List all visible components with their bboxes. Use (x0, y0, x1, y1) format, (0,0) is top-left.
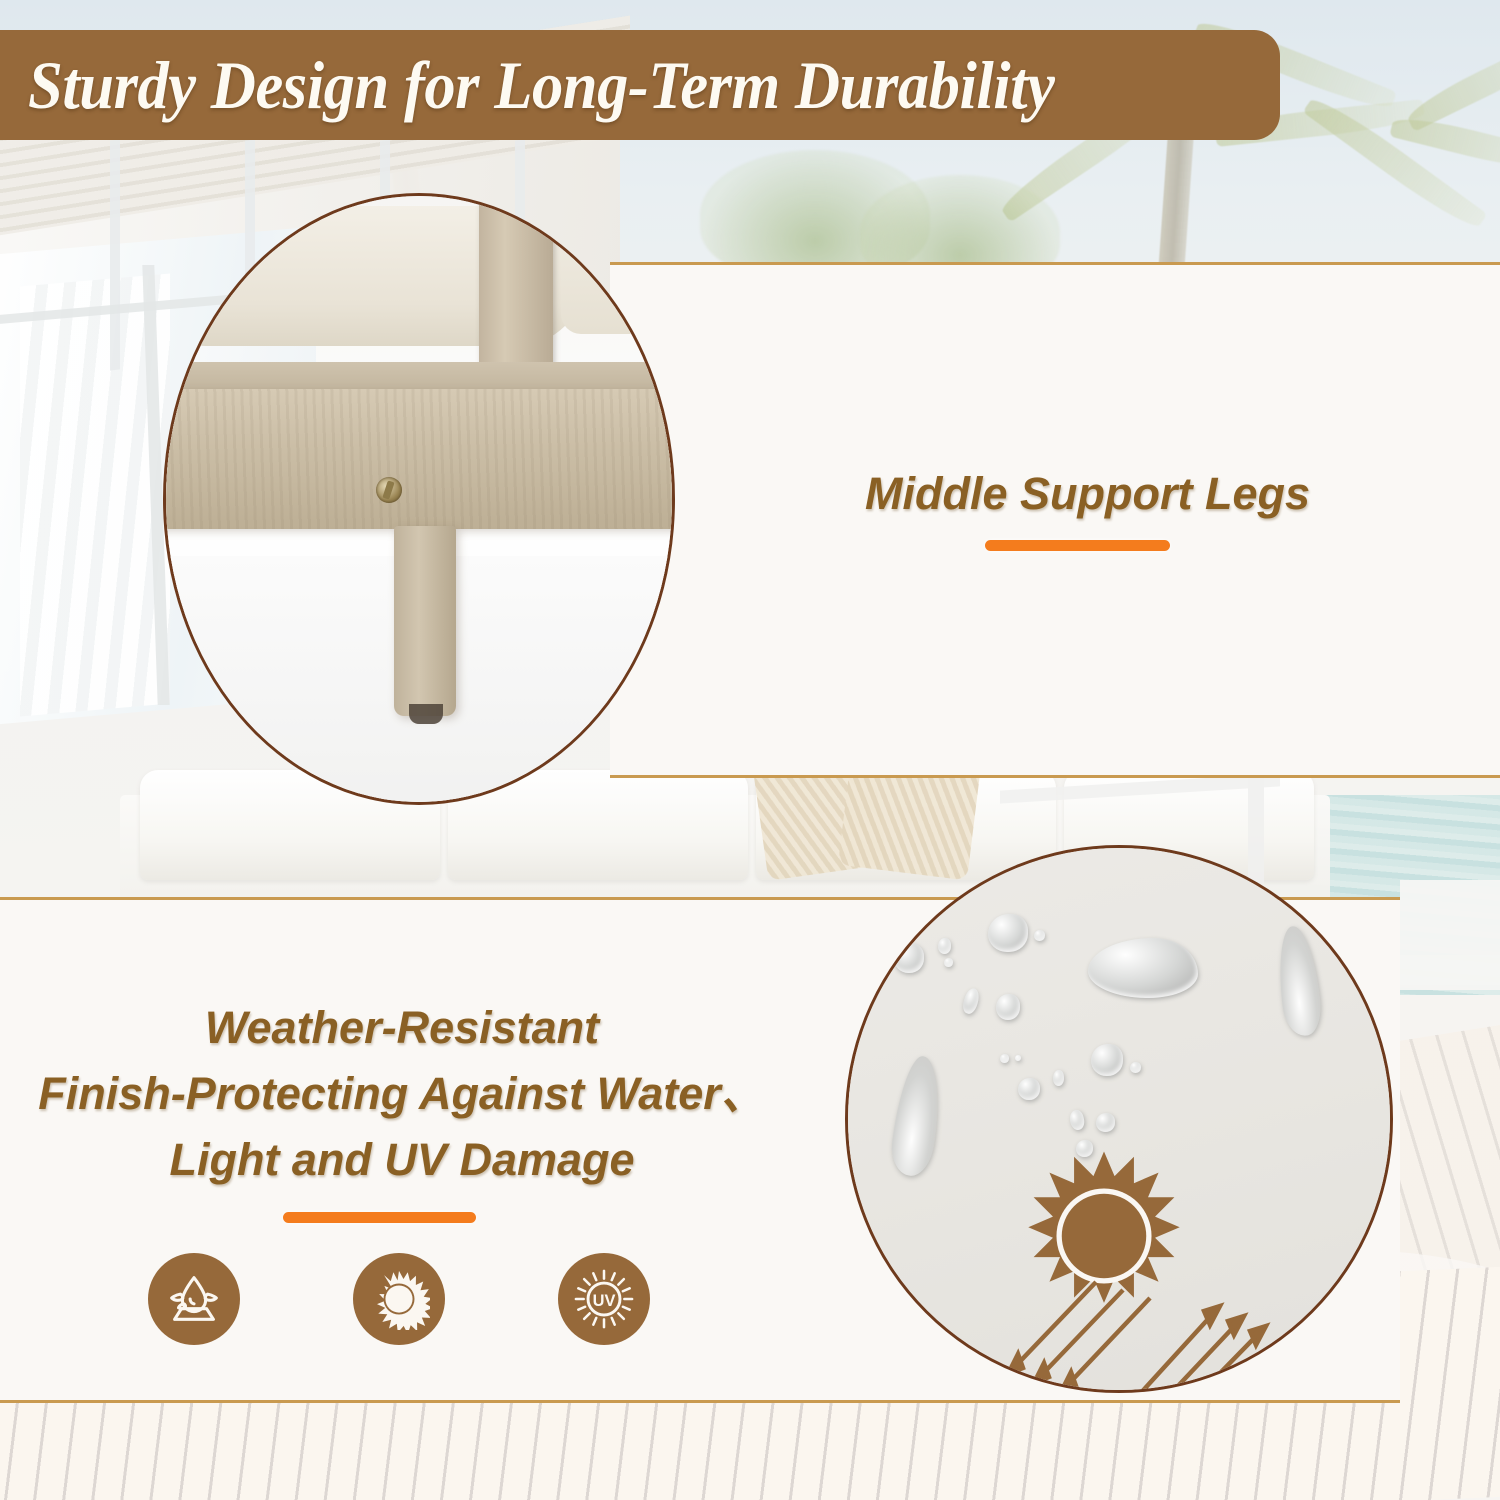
water-repellent-icon (148, 1253, 240, 1345)
feature-badge-row: UV (148, 1253, 653, 1353)
detail-photo-weather-resistance (845, 845, 1393, 1393)
page-title: Sturdy Design for Long-Term Durability (28, 46, 1054, 125)
uv-ray-arrows (968, 1278, 1278, 1393)
middle-support-leg (394, 526, 456, 716)
screw-detail (376, 477, 402, 503)
accent-rule-top (985, 540, 1170, 551)
uv-protection-icon: UV (558, 1253, 650, 1345)
heading-line-1: Weather-Resistant (22, 995, 782, 1061)
heading-line-3: Light and UV Damage (22, 1127, 782, 1193)
infographic-canvas: Sturdy Design for Long-Term Durability M… (0, 0, 1500, 1500)
heading-line-2: Finish-Protecting Against Water、 (22, 1061, 782, 1127)
feature-heading-weather-resistant: Weather-Resistant Finish-Protecting Agai… (22, 995, 782, 1193)
title-banner: Sturdy Design for Long-Term Durability (0, 30, 1280, 140)
uv-label: UV (593, 1292, 616, 1310)
feature-panel-top (610, 262, 1500, 778)
accent-rule-bottom (283, 1212, 476, 1223)
sun-icon (353, 1253, 445, 1345)
side-table (1400, 880, 1500, 990)
detail-photo-support-leg (163, 193, 675, 805)
feature-heading-middle-support-legs: Middle Support Legs (865, 468, 1310, 520)
